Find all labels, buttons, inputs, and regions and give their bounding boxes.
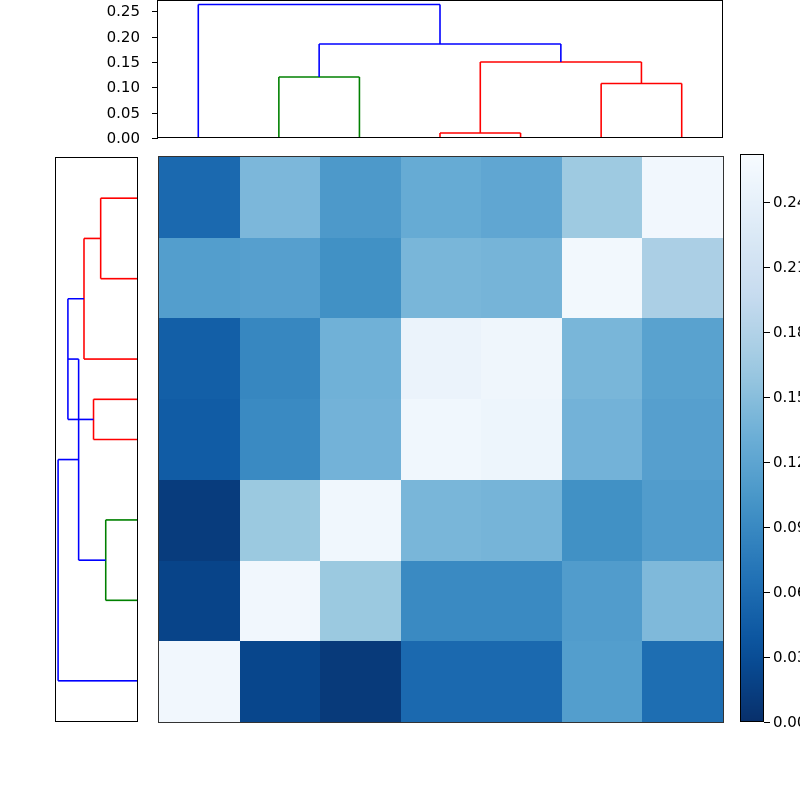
heatmap-cell[interactable] bbox=[240, 318, 321, 399]
dendrogram-link bbox=[58, 460, 137, 681]
colorbar-tick-label: 0.12 bbox=[773, 453, 800, 471]
colorbar-tick-label: 0.06 bbox=[773, 583, 800, 601]
heatmap-cell[interactable] bbox=[481, 399, 562, 480]
column-dendrogram-tick-label: 0.00 bbox=[107, 129, 140, 147]
colorbar-tick-label: 0.21 bbox=[773, 258, 800, 276]
heatmap-cell[interactable] bbox=[562, 641, 643, 722]
dendrogram-link bbox=[480, 62, 641, 133]
heatmap-cell[interactable] bbox=[240, 480, 321, 561]
heatmap-cell[interactable] bbox=[481, 561, 562, 642]
heatmap-cell[interactable] bbox=[642, 480, 723, 561]
column-dendrogram-tick-label: 0.10 bbox=[107, 78, 140, 96]
column-dendrogram-tick-label: 0.15 bbox=[107, 53, 140, 71]
heatmap-cell[interactable] bbox=[320, 318, 401, 399]
heatmap-cell[interactable] bbox=[401, 399, 482, 480]
heatmap-cell[interactable] bbox=[240, 157, 321, 238]
colorbar-tick-mark bbox=[764, 722, 770, 723]
heatmap-cell[interactable] bbox=[642, 399, 723, 480]
heatmap-cell[interactable] bbox=[159, 399, 240, 480]
dendrogram-link bbox=[84, 238, 137, 359]
clustermap-figure: 0.000.050.100.150.200.25 0.000.030.060.0… bbox=[0, 0, 800, 800]
heatmap-grid bbox=[159, 157, 723, 722]
row-dendrogram-svg bbox=[56, 158, 137, 721]
heatmap-cell[interactable] bbox=[320, 561, 401, 642]
colorbar-tick-mark bbox=[764, 202, 770, 203]
heatmap-cell[interactable] bbox=[401, 157, 482, 238]
colorbar-tick-mark bbox=[764, 527, 770, 528]
heatmap-cell[interactable] bbox=[642, 561, 723, 642]
heatmap-cell[interactable] bbox=[562, 480, 643, 561]
colorbar-strip bbox=[740, 154, 764, 722]
dendrogram-link bbox=[106, 520, 137, 600]
column-dendrogram-tick-mark bbox=[152, 138, 158, 139]
heatmap-cell[interactable] bbox=[401, 480, 482, 561]
heatmap-cell[interactable] bbox=[159, 318, 240, 399]
heatmap-cell[interactable] bbox=[320, 399, 401, 480]
dendrogram-link bbox=[319, 44, 561, 77]
heatmap-cell[interactable] bbox=[401, 641, 482, 722]
heatmap-cell[interactable] bbox=[159, 238, 240, 319]
heatmap-cell[interactable] bbox=[401, 318, 482, 399]
heatmap-cell[interactable] bbox=[642, 641, 723, 722]
colorbar-tick-mark bbox=[764, 332, 770, 333]
heatmap-cell[interactable] bbox=[481, 238, 562, 319]
colorbar-tick-mark bbox=[764, 267, 770, 268]
heatmap-cell[interactable] bbox=[240, 641, 321, 722]
colorbar-tick-mark bbox=[764, 592, 770, 593]
heatmap-cell[interactable] bbox=[159, 561, 240, 642]
heatmap-cell[interactable] bbox=[320, 157, 401, 238]
column-dendrogram-axis-labels: 0.000.050.100.150.200.25 bbox=[0, 0, 150, 138]
colorbar-tick-label: 0.24 bbox=[773, 193, 800, 211]
heatmap-cell[interactable] bbox=[159, 480, 240, 561]
dendrogram-link bbox=[279, 77, 360, 137]
dendrogram-link bbox=[440, 133, 521, 137]
heatmap-cell[interactable] bbox=[240, 561, 321, 642]
colorbar-tick-label: 0.18 bbox=[773, 323, 800, 341]
heatmap-cell[interactable] bbox=[159, 157, 240, 238]
heatmap-cell[interactable] bbox=[562, 238, 643, 319]
heatmap-cell[interactable] bbox=[562, 318, 643, 399]
dendrogram-link bbox=[601, 84, 682, 138]
colorbar-tick-label: 0.03 bbox=[773, 648, 800, 666]
column-dendrogram-tick-label: 0.25 bbox=[107, 2, 140, 20]
heatmap-cell[interactable] bbox=[320, 238, 401, 319]
heatmap-cell[interactable] bbox=[240, 238, 321, 319]
heatmap-cell[interactable] bbox=[401, 238, 482, 319]
colorbar-tick-label: 0.15 bbox=[773, 388, 800, 406]
heatmap-cell[interactable] bbox=[320, 480, 401, 561]
heatmap-cell[interactable] bbox=[159, 641, 240, 722]
column-dendrogram bbox=[157, 0, 723, 138]
dendrogram-link bbox=[101, 198, 137, 278]
heatmap-cell[interactable] bbox=[481, 157, 562, 238]
heatmap-cell[interactable] bbox=[481, 480, 562, 561]
column-dendrogram-tick-label: 0.20 bbox=[107, 28, 140, 46]
colorbar-tick-mark bbox=[764, 397, 770, 398]
row-dendrogram bbox=[55, 157, 138, 722]
heatmap-cell[interactable] bbox=[562, 157, 643, 238]
colorbar-tick-mark bbox=[764, 462, 770, 463]
colorbar-gradient bbox=[741, 155, 763, 721]
colorbar-tick-label: 0.00 bbox=[773, 713, 800, 731]
heatmap-cell[interactable] bbox=[642, 157, 723, 238]
colorbar-tick-label: 0.09 bbox=[773, 518, 800, 536]
heatmap-cell[interactable] bbox=[481, 318, 562, 399]
heatmap-cell[interactable] bbox=[562, 561, 643, 642]
heatmap-cell[interactable] bbox=[642, 238, 723, 319]
heatmap[interactable] bbox=[158, 156, 724, 723]
colorbar-tick-labels: 0.000.030.060.090.120.150.180.210.24 bbox=[764, 154, 800, 722]
heatmap-cell[interactable] bbox=[481, 641, 562, 722]
heatmap-cell[interactable] bbox=[642, 318, 723, 399]
heatmap-cell[interactable] bbox=[320, 641, 401, 722]
dendrogram-link bbox=[94, 399, 137, 439]
heatmap-cell[interactable] bbox=[240, 399, 321, 480]
heatmap-cell[interactable] bbox=[401, 561, 482, 642]
colorbar-tick-mark bbox=[764, 657, 770, 658]
heatmap-cell[interactable] bbox=[562, 399, 643, 480]
column-dendrogram-tick-label: 0.05 bbox=[107, 104, 140, 122]
column-dendrogram-svg bbox=[158, 1, 722, 137]
